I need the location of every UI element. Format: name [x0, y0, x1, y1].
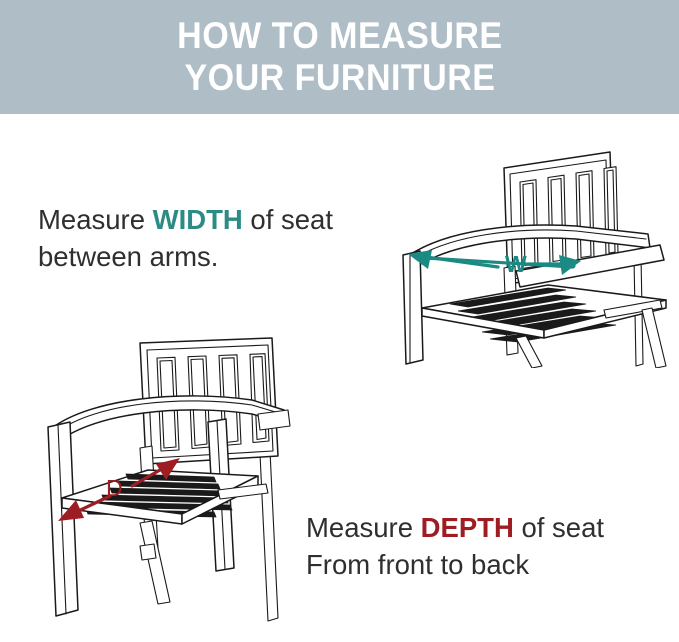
- depth-text-after: of seat: [514, 512, 604, 543]
- page-title-line-1: HOW TO MEASURE: [177, 15, 502, 57]
- header-banner: HOW TO MEASURE YOUR FURNITURE: [0, 0, 679, 114]
- depth-instruction-text: Measure DEPTH of seat From front to back: [306, 509, 604, 583]
- width-keyword: WIDTH: [153, 204, 243, 235]
- page-title-line-2: YOUR FURNITURE: [184, 57, 495, 99]
- depth-text-before: Measure: [306, 512, 421, 543]
- width-instruction-text: Measure WIDTH of seat between arms.: [38, 201, 333, 275]
- depth-instruction-line-1: Measure DEPTH of seat: [306, 509, 604, 546]
- depth-keyword: DEPTH: [421, 512, 514, 543]
- chair-illustration-depth: D: [22, 318, 322, 638]
- width-text-after: of seat: [243, 204, 333, 235]
- depth-dimension-label: D: [106, 475, 123, 501]
- width-instruction-line-1: Measure WIDTH of seat: [38, 201, 333, 238]
- infographic-page: HOW TO MEASURE YOUR FURNITURE Measure WI…: [0, 0, 679, 642]
- width-dimension-label: W: [505, 251, 527, 277]
- chair-illustration-width: W: [398, 138, 679, 368]
- width-text-before: Measure: [38, 204, 153, 235]
- depth-instruction-line-2: From front to back: [306, 546, 604, 583]
- width-instruction-line-2: between arms.: [38, 238, 333, 275]
